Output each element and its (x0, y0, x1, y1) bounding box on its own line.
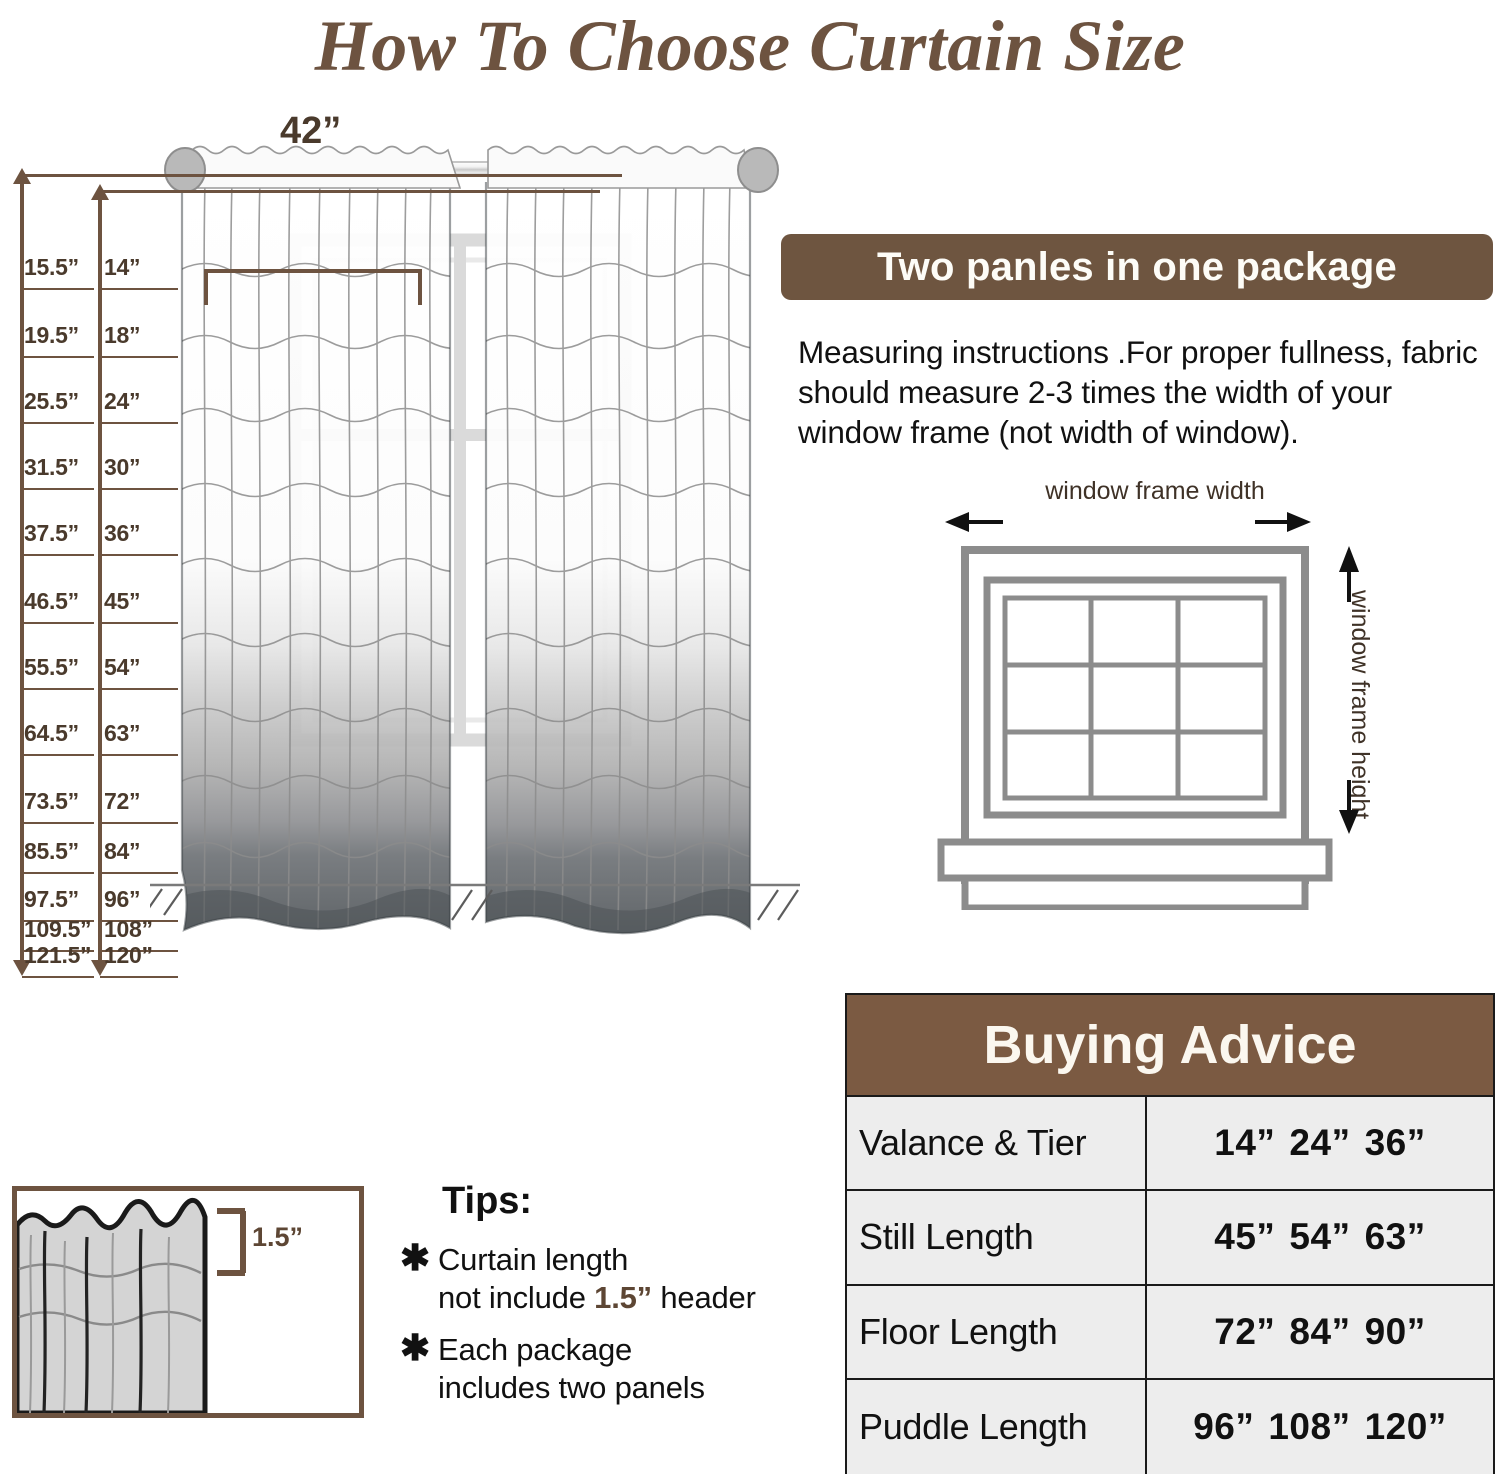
ruler-label-left: 46.5” (24, 588, 79, 615)
buying-advice-rows: Valance & Tier14”24”36”Still Length45”54… (847, 1097, 1493, 1474)
ruler-label-left: 109.5” (24, 916, 91, 943)
ruler-tick-left (22, 288, 94, 290)
asterisk-icon: ✱ (400, 1331, 438, 1365)
tips-section: Tips: ✱ Curtain length not include 1.5” … (400, 1180, 850, 1421)
tip-2-line-1: Each package (438, 1331, 705, 1369)
ruler-connector-right (100, 190, 600, 193)
tip-1-pre: not include (438, 1280, 594, 1315)
ruler-tick-right (100, 422, 178, 424)
ruler-tick-right (100, 488, 178, 490)
tip-1-line-2: not include 1.5” header (438, 1279, 756, 1317)
measuring-instructions: Measuring instructions .For proper fulln… (798, 332, 1498, 452)
table-cell-label: Floor Length (847, 1286, 1147, 1378)
table-cell-value: 63” (1358, 1216, 1433, 1258)
table-cell-values: 96”108”120” (1147, 1380, 1493, 1474)
ruler-label-right: 54” (104, 654, 140, 681)
width-bracket-svg (198, 233, 498, 313)
ruler-label-right: 63” (104, 720, 140, 747)
table-cell-value: 45” (1207, 1216, 1282, 1258)
ruler-label-left: 15.5” (24, 254, 79, 281)
ruler-label-right: 18” (104, 322, 140, 349)
ruler-tick-right (100, 754, 178, 756)
ruler-tick-right (100, 356, 178, 358)
curtain-panel-right (476, 182, 784, 990)
table-cell-label: Puddle Length (847, 1380, 1147, 1474)
ruler-label-left: 121.5” (24, 942, 91, 969)
ruler-tick-right (100, 976, 178, 978)
table-cell-value: 84” (1282, 1311, 1357, 1353)
tip-text-1: Curtain length not include 1.5” header (438, 1241, 756, 1317)
tip-2-line-2: includes two panels (438, 1369, 705, 1407)
table-cell-value: 90” (1358, 1311, 1433, 1353)
ruler-tick-left (22, 754, 94, 756)
buying-advice-table: Buying Advice Valance & Tier14”24”36”Sti… (845, 993, 1495, 1474)
ruler-tick-left (22, 554, 94, 556)
tips-heading: Tips: (442, 1180, 850, 1223)
table-cell-value: 72” (1207, 1311, 1282, 1353)
ruler-label-right: 84” (104, 838, 140, 865)
ruler-tick-right (100, 688, 178, 690)
table-cell-value: 24” (1282, 1122, 1357, 1164)
table-row: Puddle Length96”108”120” (847, 1380, 1493, 1474)
tip-1-post: header (652, 1280, 756, 1315)
window-frame-diagram (925, 470, 1405, 910)
ruler-label-left: 37.5” (24, 520, 79, 547)
ruler-tick-left (22, 488, 94, 490)
table-cell-label: Still Length (847, 1191, 1147, 1283)
ruler-label-left: 64.5” (24, 720, 79, 747)
ruler-label-left: 73.5” (24, 788, 79, 815)
ruler-label-left: 97.5” (24, 886, 79, 913)
ruler-label-left: 25.5” (24, 388, 79, 415)
ruler-label-right: 30” (104, 454, 140, 481)
ruler-label-right: 36” (104, 520, 140, 547)
tip-1-highlight: 1.5” (594, 1280, 652, 1315)
ruler-label-right: 24” (104, 388, 140, 415)
ruler-tick-left (22, 872, 94, 874)
ruler-tick-right (100, 288, 178, 290)
ruler-tick-left (22, 822, 94, 824)
width-arrows (945, 512, 1311, 532)
ruler-label-left: 55.5” (24, 654, 79, 681)
ruler-tick-left (22, 356, 94, 358)
header-detail-svg (17, 1191, 359, 1413)
tip-item-1: ✱ Curtain length not include 1.5” header (400, 1241, 850, 1317)
table-row: Floor Length72”84”90” (847, 1286, 1493, 1380)
table-cell-values: 45”54”63” (1147, 1191, 1493, 1283)
table-cell-value: 108” (1261, 1406, 1357, 1448)
page-title: How To Choose Curtain Size (0, 0, 1500, 92)
window-diagram-svg (925, 470, 1405, 910)
ruler-tick-right (100, 554, 178, 556)
table-cell-value: 96” (1186, 1406, 1261, 1448)
ruler-label-right: 72” (104, 788, 140, 815)
table-cell-value: 36” (1358, 1122, 1433, 1164)
ruler-label-left: 31.5” (24, 454, 79, 481)
ruler-label-right: 108” (104, 916, 153, 943)
ruler-tick-left (22, 688, 94, 690)
asterisk-icon: ✱ (400, 1241, 438, 1275)
tip-item-2: ✱ Each package includes two panels (400, 1331, 850, 1407)
ruler-tick-left (22, 622, 94, 624)
header-detail-measure-label: 1.5” (252, 1222, 303, 1253)
ruler-tick-left (22, 422, 94, 424)
ruler-label-right: 96” (104, 886, 140, 913)
ruler-label-right: 120” (104, 942, 153, 969)
tip-1-line-1: Curtain length (438, 1241, 756, 1279)
ruler-tick-right (100, 822, 178, 824)
height-arrows (1339, 546, 1359, 834)
curtain-header-detail (12, 1186, 364, 1418)
table-row: Still Length45”54”63” (847, 1191, 1493, 1285)
curtain-rod (165, 147, 778, 193)
buying-advice-title: Buying Advice (847, 995, 1493, 1097)
ruler-tick-right (100, 872, 178, 874)
ruler-label-right: 45” (104, 588, 140, 615)
two-panels-banner: Two panles in one package (781, 234, 1493, 300)
ruler-tick-left (22, 976, 94, 978)
ruler-axis-right (98, 198, 102, 970)
table-cell-value: 14” (1207, 1122, 1282, 1164)
ruler-label-left: 19.5” (24, 322, 79, 349)
ruler-tick-right (100, 622, 178, 624)
header-height-bracket (217, 1211, 245, 1273)
measurement-rulers: 15.5”19.5”25.5”31.5”37.5”46.5”55.5”64.5”… (0, 160, 200, 990)
table-cell-value: 54” (1282, 1216, 1357, 1258)
table-row: Valance & Tier14”24”36” (847, 1097, 1493, 1191)
ruler-label-left: 85.5” (24, 838, 79, 865)
table-cell-values: 14”24”36” (1147, 1097, 1493, 1189)
table-cell-value: 120” (1358, 1406, 1454, 1448)
tip-text-2: Each package includes two panels (438, 1331, 705, 1407)
table-cell-values: 72”84”90” (1147, 1286, 1493, 1378)
ruler-label-right: 14” (104, 254, 140, 281)
table-cell-label: Valance & Tier (847, 1097, 1147, 1189)
width-label: 42” (280, 110, 341, 153)
ruler-connector-left (22, 174, 622, 177)
